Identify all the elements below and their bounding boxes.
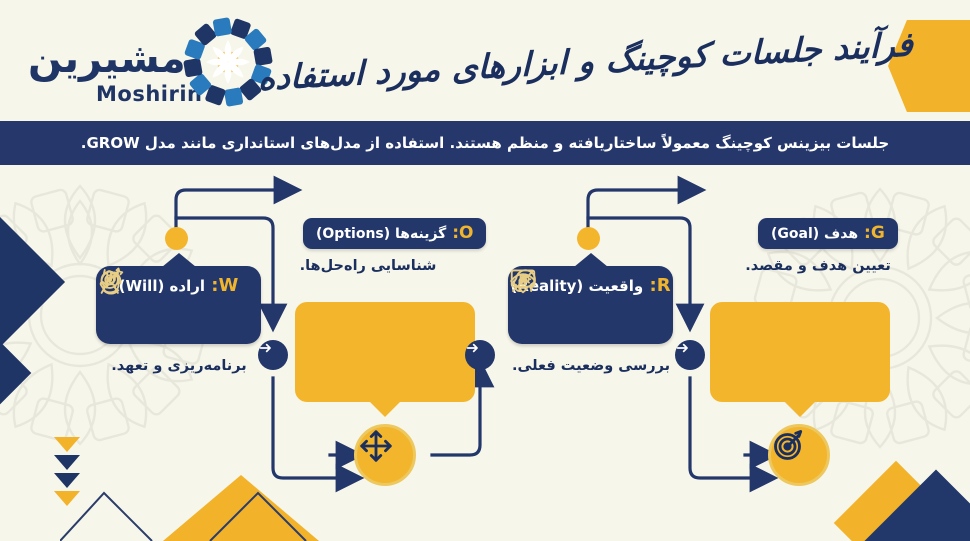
step-reality-card[interactable]: R: واقعیت (Reality) R <box>508 266 673 344</box>
step-will-label: اراده (Will) <box>119 277 205 295</box>
step-will-card[interactable]: W: اراده (Will) <box>96 266 261 344</box>
step-options-caption: شناسایی راه‌حل‌ها. <box>268 258 468 274</box>
step-options-label: گزینه‌ها (Options) <box>316 226 446 242</box>
options-content-bubble[interactable] <box>295 302 475 402</box>
step-goal-pill[interactable]: G: هدف (Goal) <box>758 218 898 249</box>
subtitle-text: جلسات بیزینس کوچینگ معمولاً ساختاریافته … <box>81 134 889 152</box>
page-title: فرآیند جلسات کوچینگ و ابزارهای مورد استف… <box>258 1 898 123</box>
step-reality-caption: بررسی وضعیت فعلی. <box>505 358 677 374</box>
step-reality-letter: R: <box>643 275 670 296</box>
arrow-right-icon <box>258 340 274 356</box>
badge-target[interactable] <box>768 424 830 486</box>
step-will-letter: W: <box>205 275 238 296</box>
badge-move[interactable] <box>354 424 416 486</box>
step-options-letter: O: <box>446 223 473 243</box>
step-reality-icons: R <box>508 296 673 313</box>
step-goal-letter: G: <box>858 223 885 243</box>
grow-flow-diagram: G: هدف (Goal) تعیین هدف و مقصد. O: گزینه… <box>0 168 970 541</box>
step-goal-caption: تعیین هدف و مقصد. <box>718 258 918 274</box>
arrow-circle-middle[interactable] <box>465 340 495 370</box>
step-goal-label: هدف (Goal) <box>771 226 858 242</box>
step-will-caption: برنامه‌ریزی و تعهد. <box>93 358 265 374</box>
arrow-circle-right[interactable] <box>675 340 705 370</box>
arrow-right-icon <box>675 340 691 356</box>
arrow-circle-left[interactable] <box>258 340 288 370</box>
logo-wordmark-fa: مشیرین <box>28 36 186 82</box>
infographic-canvas: مشیرین Moshirin <box>0 0 970 541</box>
step-options-pill[interactable]: O: گزینه‌ها (Options) <box>303 218 486 249</box>
goal-content-bubble[interactable] <box>710 302 890 402</box>
header: مشیرین Moshirin <box>0 0 970 121</box>
reality-connector-dot <box>577 227 600 250</box>
will-connector-dot <box>165 227 188 250</box>
subtitle-bar: جلسات بیزینس کوچینگ معمولاً ساختاریافته … <box>0 121 970 168</box>
brand-logo[interactable]: مشیرین Moshirin <box>18 10 268 110</box>
arrow-right-icon <box>465 340 481 356</box>
step-will-icons <box>96 296 261 313</box>
